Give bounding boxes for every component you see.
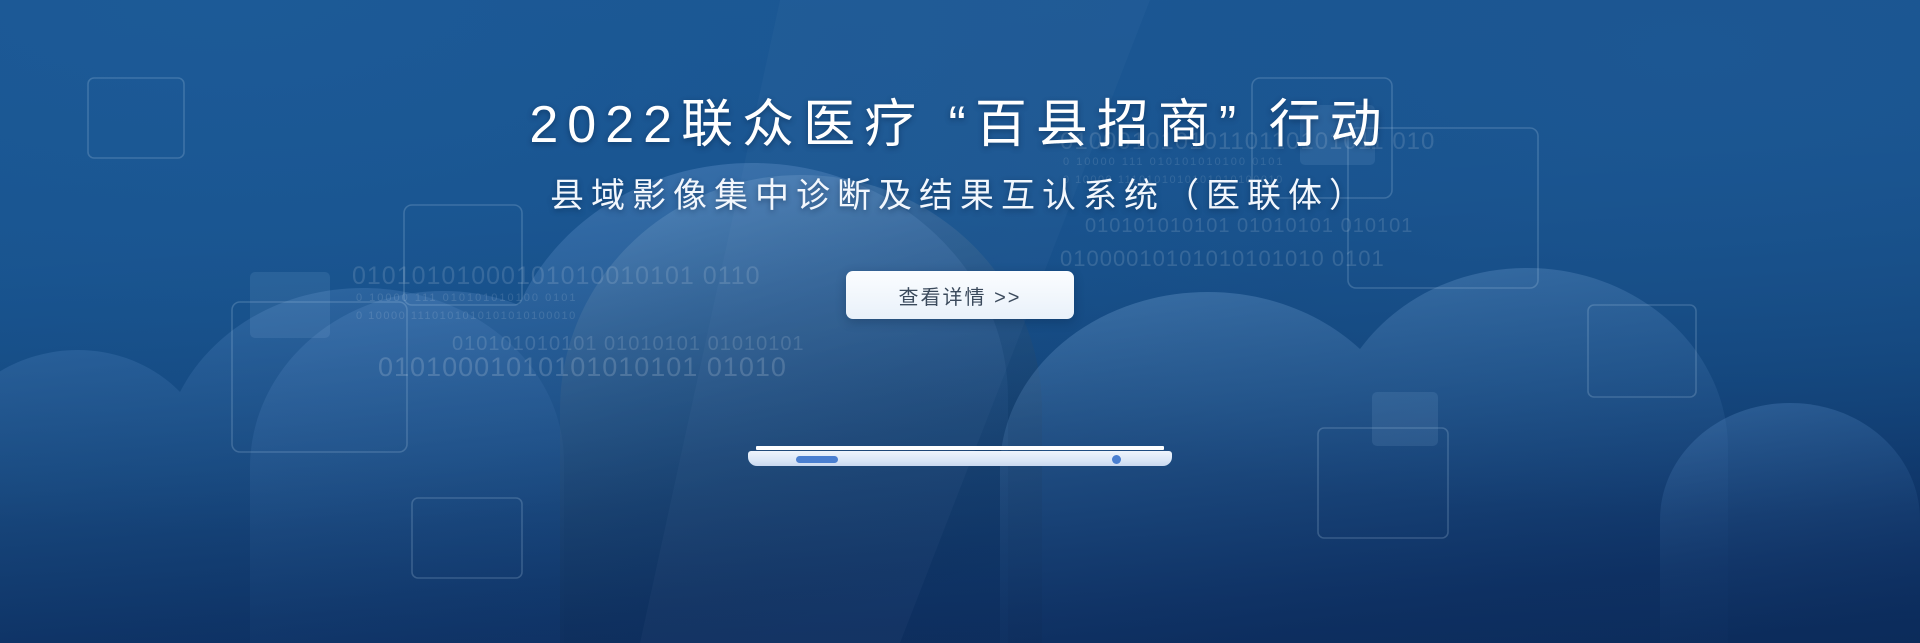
laptop-lid-edge	[756, 446, 1164, 450]
laptop-illustration	[748, 446, 1172, 470]
view-details-button[interactable]: 查看详情 >>	[846, 271, 1074, 319]
banner-content: 2022联众医疗 “百县招商” 行动 县域影像集中诊断及结果互认系统（医联体） …	[0, 0, 1920, 643]
laptop-port-icon	[796, 456, 838, 463]
laptop-indicator-dot-icon	[1112, 455, 1121, 464]
banner-title: 2022联众医疗 “百县招商” 行动	[529, 96, 1390, 154]
promo-banner: 01010101000101010010101 0110 0 10000 111…	[0, 0, 1920, 643]
banner-subtitle: 县域影像集中诊断及结果互认系统（医联体）	[550, 176, 1370, 217]
